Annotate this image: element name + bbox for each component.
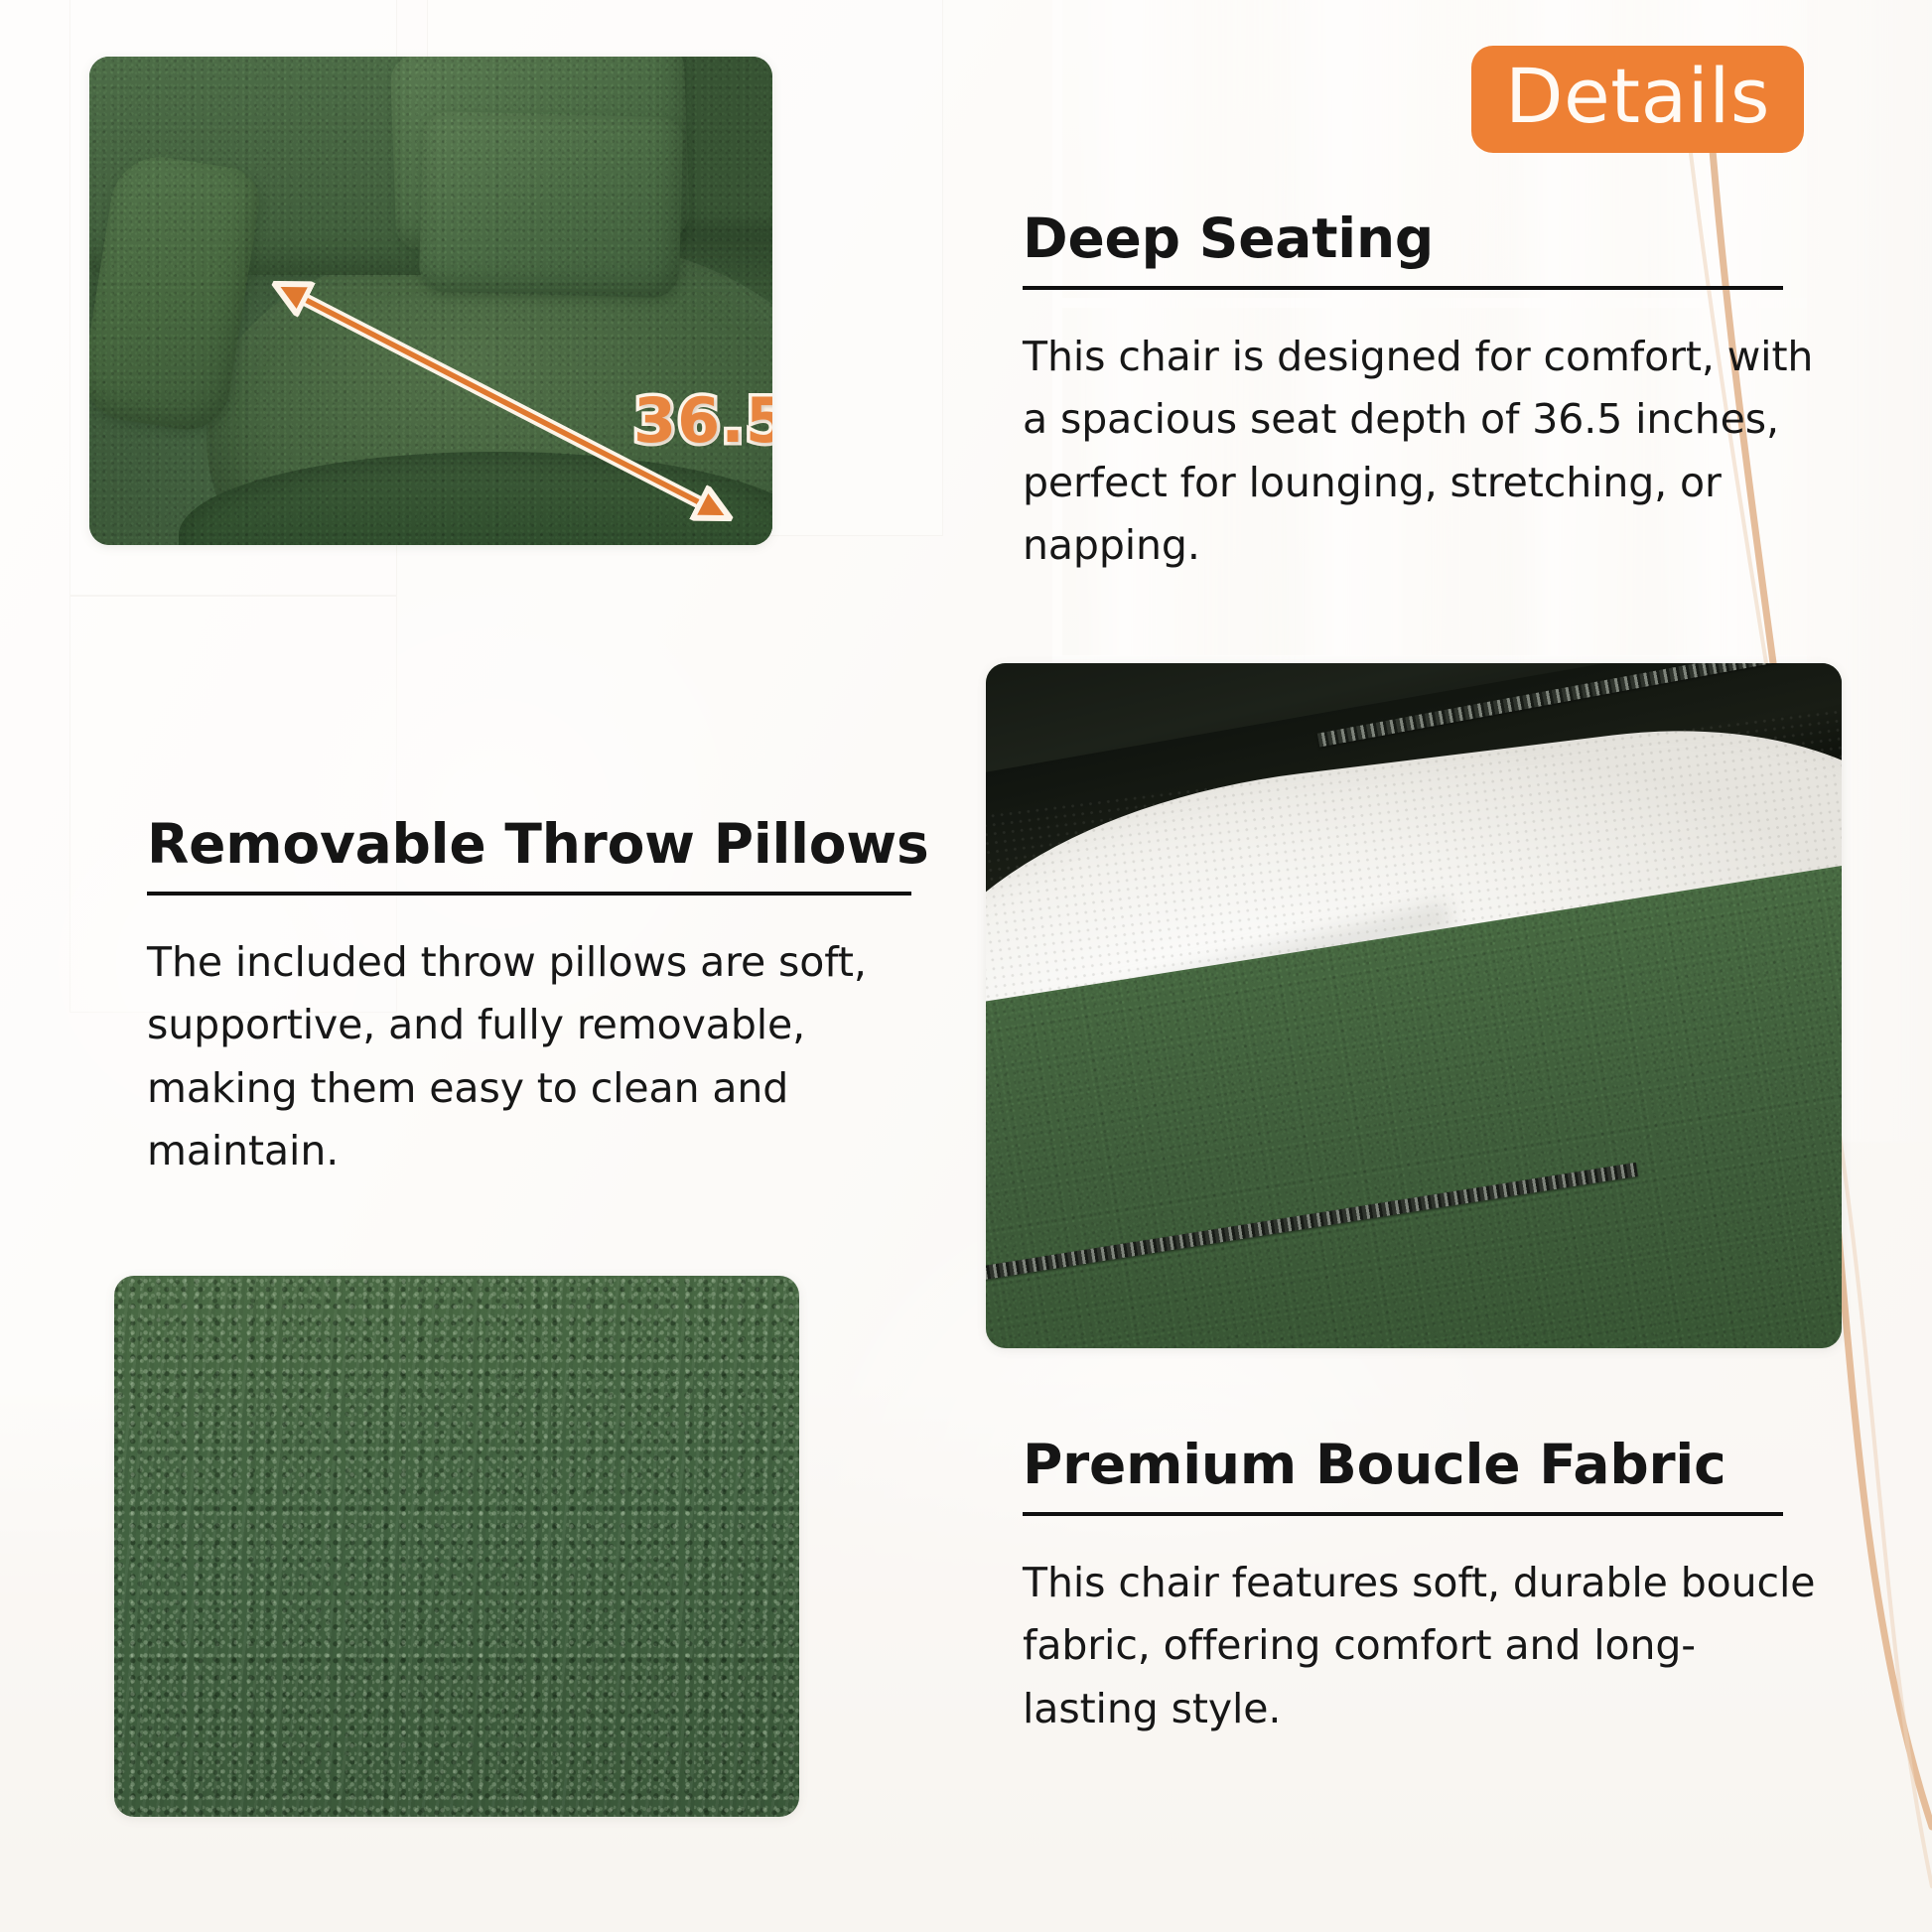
- feature-block-premium-boucle-fabric: Premium Boucle Fabric This chair feature…: [1023, 1435, 1827, 1740]
- feature-title: Removable Throw Pillows: [147, 814, 951, 876]
- title-divider: [147, 892, 911, 896]
- feature-body: This chair is designed for comfort, with…: [1023, 326, 1827, 578]
- feature-title: Premium Boucle Fabric: [1023, 1435, 1827, 1496]
- dimension-label: 36.5": [633, 384, 772, 457]
- feature-block-deep-seating: Deep Seating This chair is designed for …: [1023, 208, 1827, 578]
- seat-photo-panel: 36.5": [89, 57, 772, 545]
- fabric-swatch-panel: [114, 1276, 799, 1817]
- feature-block-removable-throw-pillows: Removable Throw Pillows The included thr…: [147, 814, 951, 1183]
- details-page: Details 36.5": [0, 0, 1932, 1932]
- feature-body: The included throw pillows are soft, sup…: [147, 931, 951, 1183]
- feature-body: This chair features soft, durable boucle…: [1023, 1552, 1827, 1741]
- title-divider: [1023, 286, 1783, 290]
- feature-title: Deep Seating: [1023, 208, 1827, 270]
- zipper-photo-panel: [986, 663, 1842, 1348]
- details-badge: Details: [1471, 46, 1804, 153]
- title-divider: [1023, 1512, 1783, 1516]
- dimension-arrow-icon: [89, 57, 772, 545]
